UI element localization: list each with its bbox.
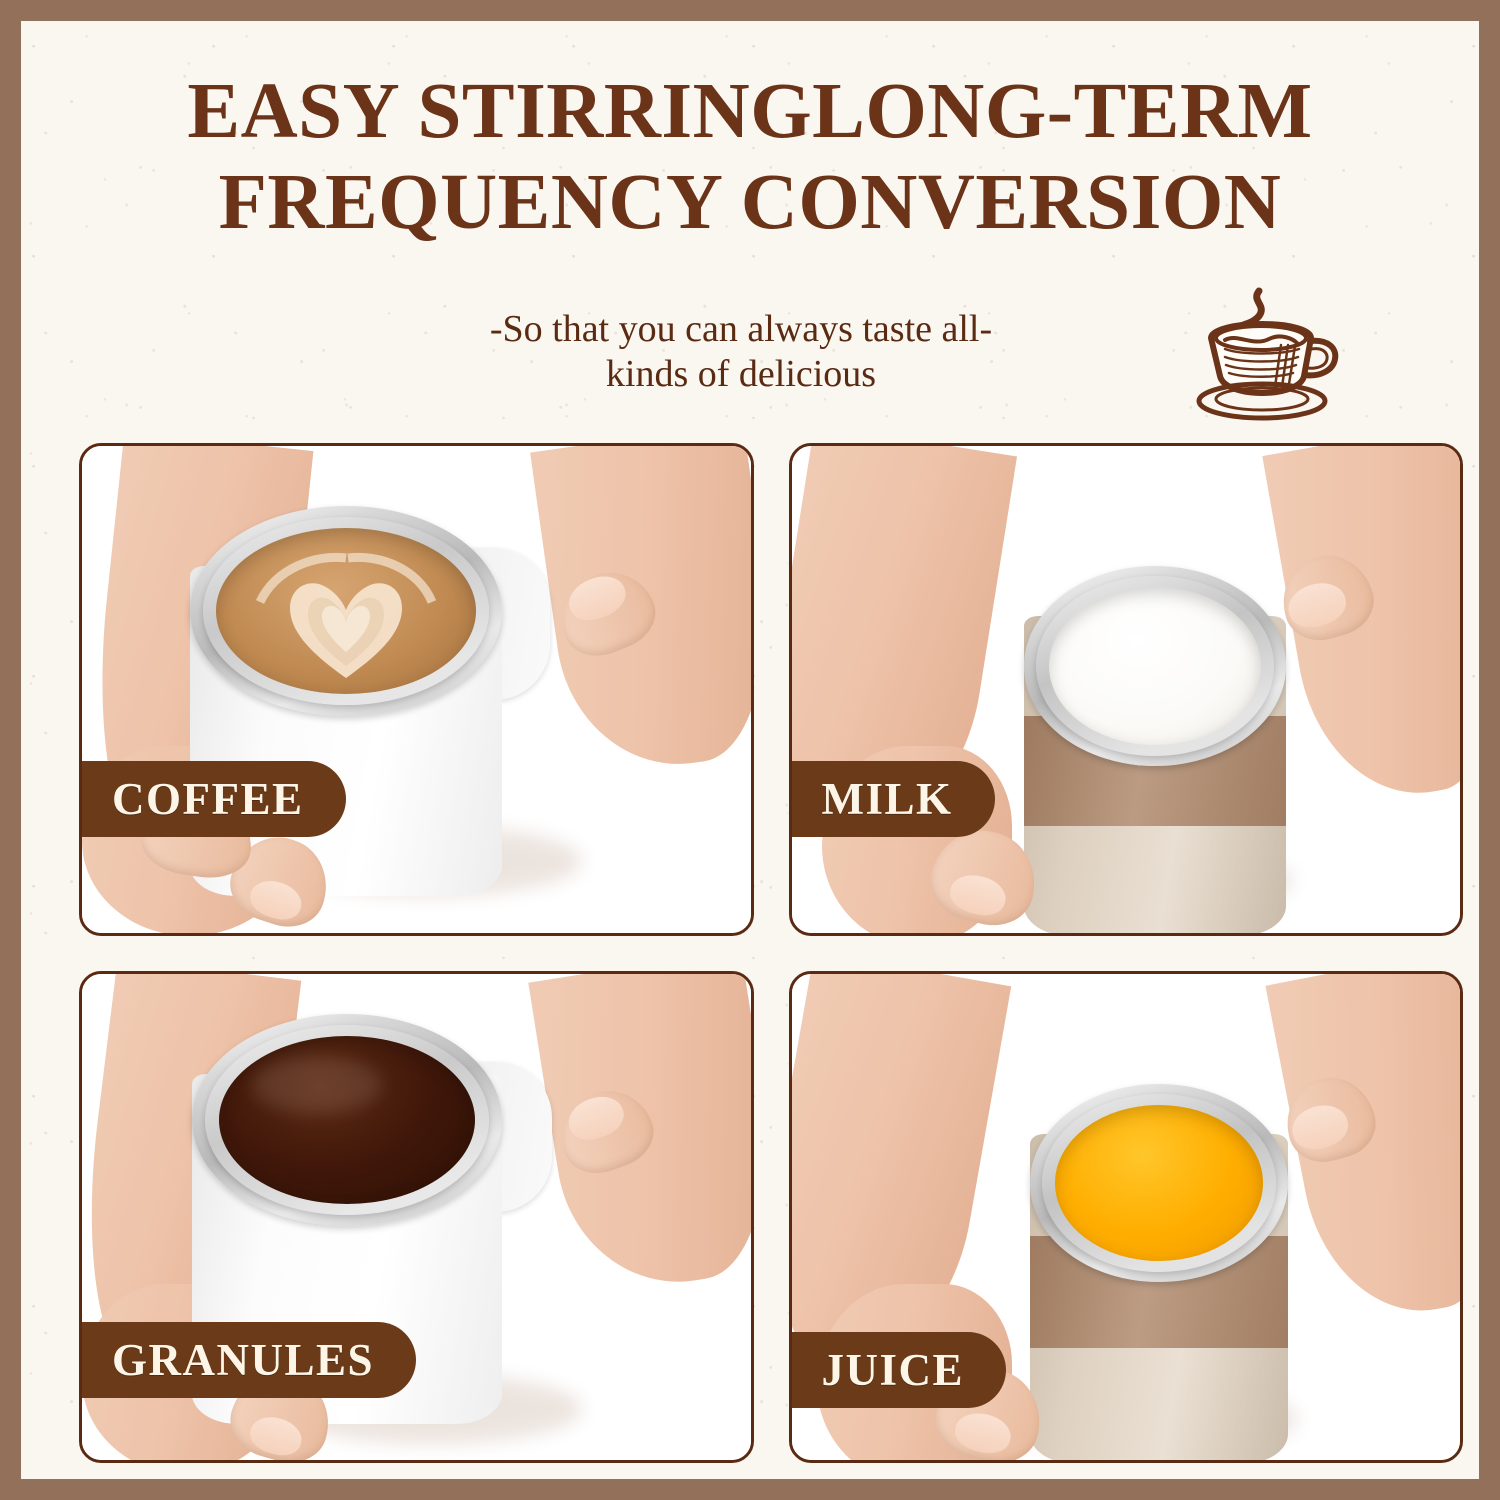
infographic-page: EASY STIRRINGLONG-TERM FREQUENCY CONVERS… (0, 0, 1500, 1500)
photo-coffee (82, 446, 751, 933)
photo-milk (792, 446, 1461, 933)
badge-granules-label: GRANULES (112, 1334, 374, 1386)
title-line-1: EASY STIRRINGLONG-TERM (187, 68, 1312, 155)
panel-granules[interactable]: GRANULES (79, 971, 754, 1464)
badge-granules: GRANULES (79, 1322, 416, 1398)
badge-juice-label: JUICE (822, 1344, 965, 1396)
page-subtitle: -So that you can always taste all- kinds… (321, 307, 1161, 397)
title-line-2: FREQUENCY CONVERSION (61, 164, 1439, 241)
panel-milk[interactable]: MILK (789, 443, 1464, 936)
subtitle-line-1: -So that you can always taste all- (490, 308, 992, 350)
coffee-cup-icon (1189, 283, 1349, 428)
subtitle-line-2: kinds of delicious (606, 353, 876, 395)
badge-milk: MILK (789, 761, 995, 837)
page-title: EASY STIRRINGLONG-TERM FREQUENCY CONVERS… (61, 73, 1439, 242)
product-usage-grid: COFFEE (79, 443, 1463, 1463)
panel-coffee[interactable]: COFFEE (79, 443, 754, 936)
panel-juice[interactable]: JUICE (789, 971, 1464, 1464)
badge-milk-label: MILK (822, 773, 953, 825)
badge-coffee-label: COFFEE (112, 773, 304, 825)
badge-coffee: COFFEE (79, 761, 346, 837)
badge-juice: JUICE (789, 1332, 1007, 1408)
header: EASY STIRRINGLONG-TERM FREQUENCY CONVERS… (21, 21, 1479, 441)
